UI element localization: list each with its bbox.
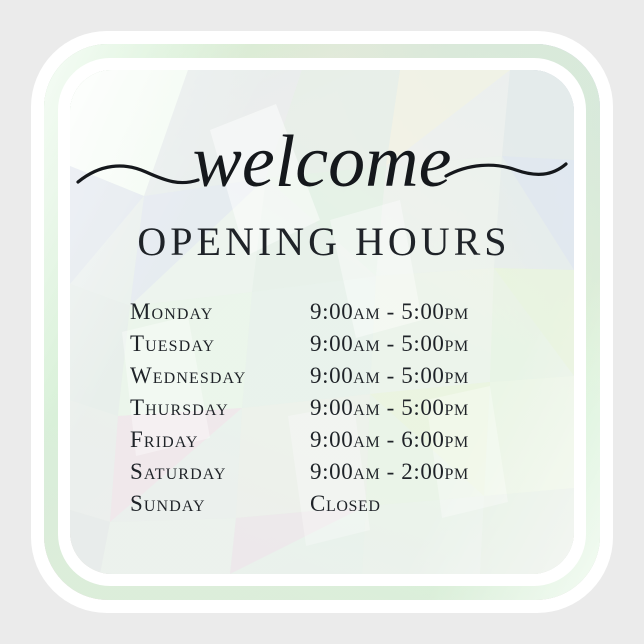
- day-label: Friday: [130, 424, 199, 456]
- hours-value: 9:00am - 5:00pm: [310, 296, 469, 328]
- day-label: Wednesday: [130, 360, 246, 392]
- hours-row: Saturday 9:00am - 2:00pm: [70, 456, 574, 488]
- sign-content: welcome OPENING HOURS Monday 9:00am - 5:…: [70, 70, 574, 574]
- hours-value: 9:00am - 5:00pm: [310, 360, 469, 392]
- hours-row: Sunday Closed: [70, 488, 574, 520]
- hours-row: Thursday 9:00am - 5:00pm: [70, 392, 574, 424]
- hours-value: 9:00am - 2:00pm: [310, 456, 469, 488]
- hours-value: 9:00am - 5:00pm: [310, 392, 469, 424]
- sign-canvas: welcome OPENING HOURS Monday 9:00am - 5:…: [0, 0, 644, 644]
- day-label: Thursday: [130, 392, 229, 424]
- day-label: Sunday: [130, 488, 206, 520]
- hours-row: Wednesday 9:00am - 5:00pm: [70, 360, 574, 392]
- opening-hours-list: Monday 9:00am - 5:00pm Tuesday 9:00am - …: [70, 296, 574, 520]
- day-label: Monday: [130, 296, 213, 328]
- welcome-script-text: welcome: [193, 121, 452, 203]
- welcome-script-graphic: welcome: [70, 120, 574, 212]
- hours-row: Tuesday 9:00am - 5:00pm: [70, 328, 574, 360]
- right-swash-icon: [446, 164, 566, 176]
- hours-value: Closed: [310, 488, 381, 520]
- day-label: Saturday: [130, 456, 227, 488]
- page-title: OPENING HOURS: [70, 222, 574, 262]
- hours-row: Friday 9:00am - 6:00pm: [70, 424, 574, 456]
- crystal-photo-panel: welcome OPENING HOURS Monday 9:00am - 5:…: [70, 70, 574, 574]
- hours-value: 9:00am - 6:00pm: [310, 424, 469, 456]
- left-swash-icon: [78, 166, 198, 183]
- hours-value: 9:00am - 5:00pm: [310, 328, 469, 360]
- welcome-title-area: welcome: [70, 120, 574, 212]
- day-label: Tuesday: [130, 328, 215, 360]
- hours-row: Monday 9:00am - 5:00pm: [70, 296, 574, 328]
